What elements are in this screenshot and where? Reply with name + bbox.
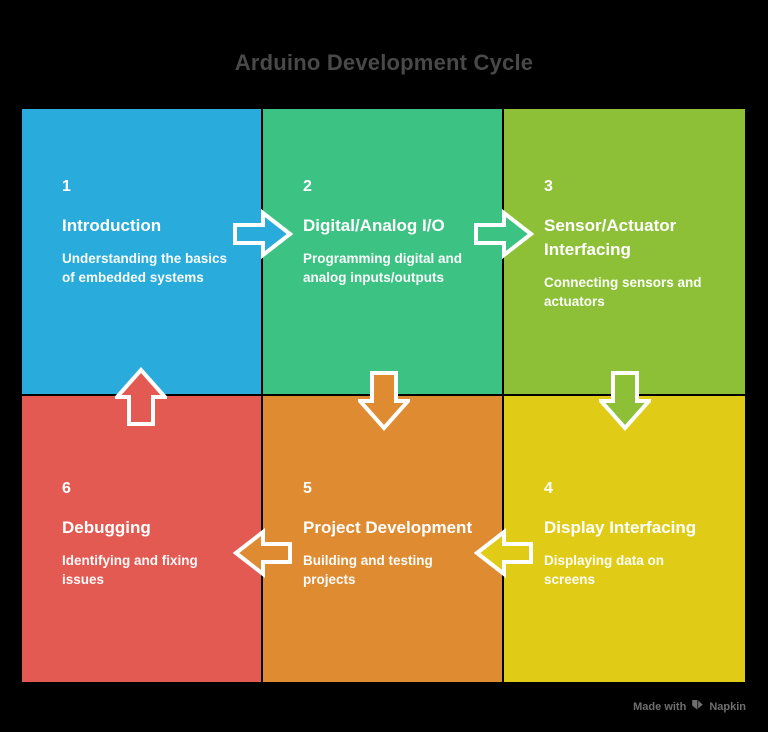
step-card-5-number: 5 — [303, 480, 484, 498]
step-card-4-number: 4 — [544, 480, 727, 498]
napkin-logo-icon — [691, 699, 704, 714]
step-card-2-content: 2 Digital/Analog I/O Programming digital… — [303, 178, 484, 287]
step-card-3-number: 3 — [544, 178, 727, 196]
step-card-6-description: Identifying and fixing issues — [62, 551, 234, 589]
step-card-1-title: Introduction — [62, 214, 237, 238]
step-card-1-description: Understanding the basics of embedded sys… — [62, 249, 234, 287]
step-card-1-number: 1 — [62, 178, 243, 196]
step-card-2-number: 2 — [303, 178, 484, 196]
footer-brand-label: Napkin — [709, 701, 746, 713]
step-card-4[interactable]: 4 Display Interfacing Displaying data on… — [504, 396, 745, 682]
step-card-2[interactable]: 2 Digital/Analog I/O Programming digital… — [263, 109, 502, 394]
step-card-5[interactable]: 5 Project Development Building and testi… — [263, 396, 502, 682]
process-grid: 1 Introduction Understanding the basics … — [22, 109, 745, 682]
step-card-6[interactable]: 6 Debugging Identifying and fixing issue… — [22, 396, 261, 682]
page-title: Arduino Development Cycle — [0, 50, 768, 76]
step-card-5-description: Building and testing projects — [303, 551, 475, 589]
step-card-3-content: 3 Sensor/Actuator Interfacing Connecting… — [544, 178, 727, 311]
step-card-1-content: 1 Introduction Understanding the basics … — [62, 178, 243, 287]
footer-attribution: Made with Napkin — [633, 699, 746, 714]
footer-made-with-label: Made with — [633, 701, 686, 713]
step-card-6-title: Debugging — [62, 516, 237, 540]
step-card-2-description: Programming digital and analog inputs/ou… — [303, 249, 475, 287]
step-card-3-title: Sensor/Actuator Interfacing — [544, 214, 719, 262]
step-card-3-description: Connecting sensors and actuators — [544, 273, 716, 311]
step-card-6-number: 6 — [62, 480, 243, 498]
step-card-4-content: 4 Display Interfacing Displaying data on… — [544, 480, 727, 589]
step-card-5-content: 5 Project Development Building and testi… — [303, 480, 484, 589]
step-card-4-description: Displaying data on screens — [544, 551, 716, 589]
step-card-6-content: 6 Debugging Identifying and fixing issue… — [62, 480, 243, 589]
step-card-1[interactable]: 1 Introduction Understanding the basics … — [22, 109, 261, 394]
step-card-5-title: Project Development — [303, 516, 478, 540]
step-card-3[interactable]: 3 Sensor/Actuator Interfacing Connecting… — [504, 109, 745, 394]
step-card-2-title: Digital/Analog I/O — [303, 214, 478, 238]
step-card-4-title: Display Interfacing — [544, 516, 719, 540]
